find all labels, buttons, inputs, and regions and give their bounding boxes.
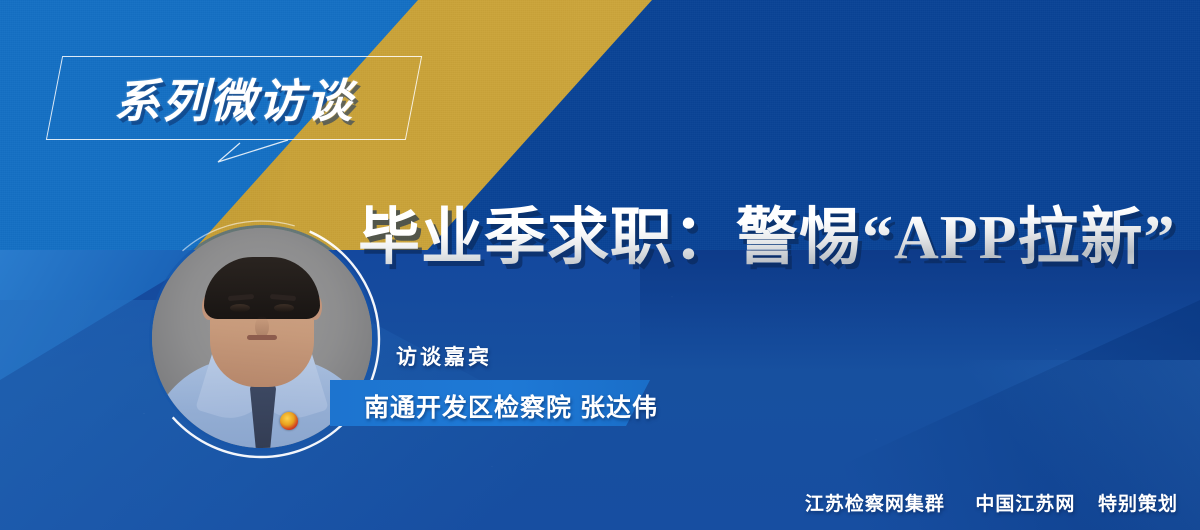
footer-group: 江苏检察网集群 bbox=[805, 494, 945, 515]
guest-label: 访谈嘉宾 bbox=[396, 341, 492, 371]
interview-banner: 系列微访谈 毕业季求职：警惕“APP拉新” bbox=[0, 0, 1200, 530]
footer-credit: 江苏检察网集群 中国江苏网 特别策划 bbox=[805, 489, 1178, 516]
series-label-bubble: 系列微访谈 bbox=[54, 56, 414, 140]
guest-name-text: 南通开发区检察院 张达伟 bbox=[364, 388, 658, 424]
page-title: 毕业季求职：警惕“APP拉新” bbox=[358, 186, 1176, 276]
procuratorate-emblem-icon bbox=[280, 412, 298, 430]
footer-planning: 特别策划 bbox=[1098, 494, 1178, 515]
series-label-text: 系列微访谈 bbox=[54, 56, 414, 140]
bubble-tail-icon bbox=[200, 139, 290, 167]
footer-site: 中国江苏网 bbox=[975, 494, 1075, 515]
